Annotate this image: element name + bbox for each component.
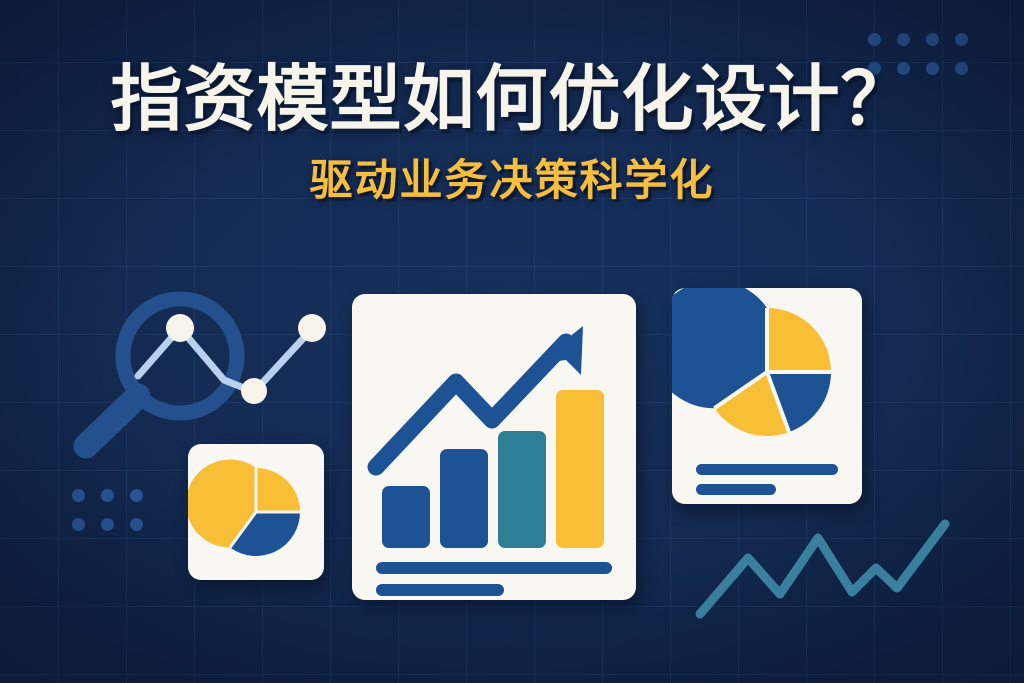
caption-line-1: [696, 464, 838, 475]
caption-placeholder-lines: [376, 562, 612, 596]
card-small-pie-chart[interactable]: [188, 444, 324, 580]
pie-slice-a: [256, 468, 300, 512]
pie-chart-small-icon: [188, 460, 300, 557]
heading-block: 指资模型如何优化设计？ 驱动业务决策科学化: [0, 62, 1024, 205]
card-main-bar-chart[interactable]: [352, 294, 636, 600]
bar-3: [498, 431, 546, 548]
pie-chart-large-icon: [672, 288, 831, 436]
data-point-marker: [166, 314, 194, 342]
trend-polyline: [700, 524, 945, 614]
pie-slice-a: [767, 308, 831, 372]
data-point-marker: [298, 314, 326, 342]
bar-1: [382, 486, 430, 548]
trend-zigzag-line-graphic: [692, 496, 974, 646]
caption-line-1: [376, 562, 612, 574]
card-pie-chart[interactable]: [672, 288, 862, 504]
bar-2: [440, 449, 488, 548]
caption-line-2: [376, 584, 504, 596]
page-subtitle: 驱动业务决策科学化: [0, 158, 1024, 205]
poster-canvas: 指资模型如何优化设计？ 驱动业务决策科学化: [0, 0, 1024, 683]
bar-4: [556, 390, 604, 548]
page-title: 指资模型如何优化设计？: [0, 62, 1024, 140]
caption-placeholder-lines: [696, 464, 838, 495]
magnifier-line-chart-graphic: [62, 268, 352, 468]
caption-line-2: [696, 484, 776, 495]
data-point-marker: [241, 378, 267, 404]
growth-arrow-icon: [376, 326, 583, 467]
